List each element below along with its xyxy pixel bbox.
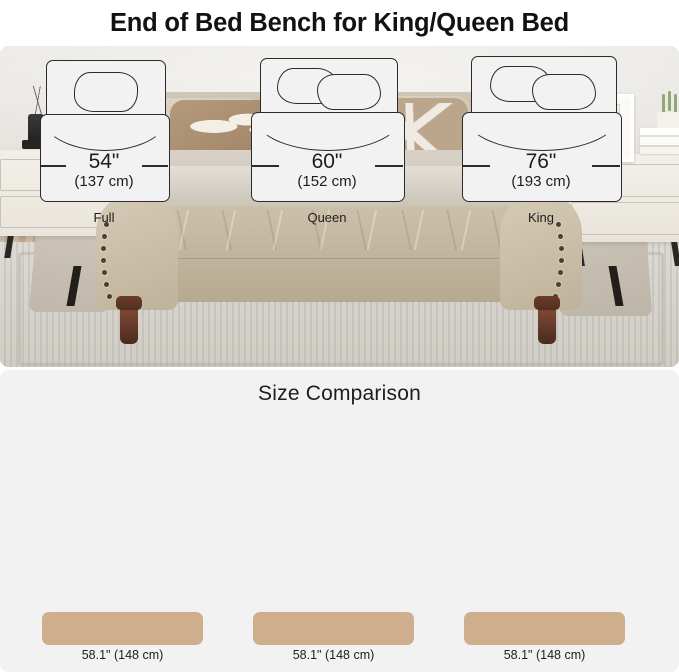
bed-diagrams: 54" (137 cm) Full 60" (152 cm) Queen [0,52,679,302]
bench-width-label-king: 58.1" (148 cm) [464,648,625,662]
page-title: End of Bed Bench for King/Queen Bed [0,0,679,46]
pillow-outline [532,74,596,110]
bench-width-bar-king [464,612,625,645]
bench-width-bar-queen [253,612,414,645]
product-image-page: End of Bed Bench for King/Queen Bed [0,0,679,672]
pillow-outline [317,74,381,110]
bench-leg-right [538,296,556,344]
bed-diagram-king: 76" (193 cm) King [462,52,622,232]
bed-size-label: Full [40,210,168,225]
bed-width-inches: 76" [462,150,620,173]
bench-leg-left [120,296,138,344]
bed-diagram-full: 54" (137 cm) Full [40,52,200,232]
bed-width-inches: 60" [251,150,403,173]
bed-size-label: Queen [251,210,403,225]
bench-width-bar-full [42,612,203,645]
size-comparison-title: Size Comparison [0,382,679,406]
bench-width-label-queen: 58.1" (148 cm) [253,648,414,662]
bed-width-cm: (137 cm) [40,173,168,191]
bed-width-inches: 54" [40,150,168,173]
bed-size-label: King [462,210,620,225]
bed-width-cm: (193 cm) [462,173,620,191]
bed-width-cm: (152 cm) [251,173,403,191]
pillow-outline [74,72,138,112]
bench-width-label-full: 58.1" (148 cm) [42,648,203,662]
bed-diagram-queen: 60" (152 cm) Queen [251,52,411,232]
